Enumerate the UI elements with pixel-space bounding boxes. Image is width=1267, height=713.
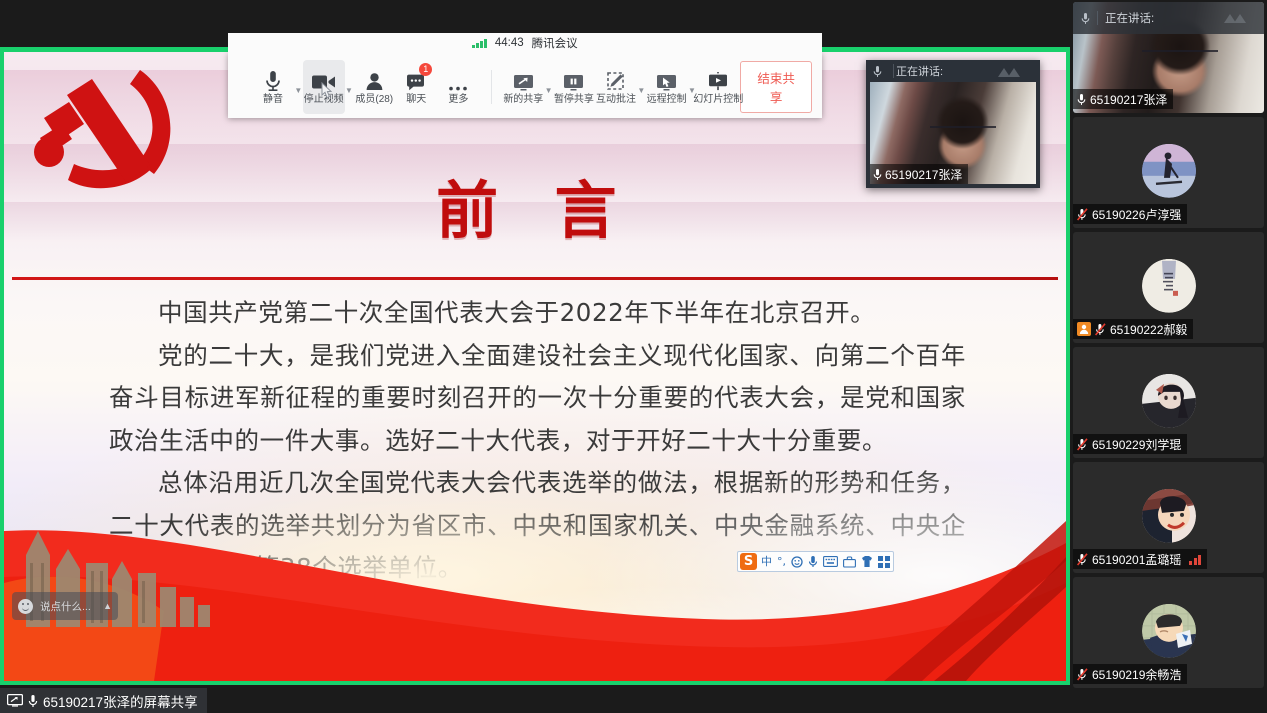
participant-tile[interactable]: 正在讲话: 65190217张泽 (1073, 2, 1264, 113)
members-button[interactable]: 成员(28) (353, 60, 395, 114)
meeting-toolbar: 44:43 腾讯会议 静音 ▼ 停止视频 ▼ (228, 53, 822, 118)
screen-share-notice-text: 65190217张泽的屏幕共享 (43, 691, 198, 711)
self-view-name: 65190217张泽 (885, 166, 962, 183)
meeting-app-name: 腾讯会议 (532, 35, 578, 51)
members-icon (365, 69, 384, 91)
mute-label: 静音 (263, 94, 283, 105)
remote-control-label: 远程控制 (647, 94, 687, 105)
participant-name-badge: 65190229刘学琨 (1073, 434, 1187, 454)
header-divider (1097, 11, 1098, 25)
participant-name: 65190201孟璐瑶 (1092, 551, 1181, 568)
glasses-detail (930, 126, 996, 135)
toolbar-divider (491, 70, 492, 104)
pause-share-button[interactable]: 暂停共享 (553, 60, 595, 114)
poor-network-icon (1189, 554, 1201, 565)
more-icon (448, 69, 468, 91)
self-view-name-badge: 65190217张泽 (870, 164, 968, 184)
meeting-window: 前 言 中国共产党第二十次全国代表大会于2022年下半年在北京召开。 党的二十大… (0, 0, 1267, 713)
sogou-logo-icon[interactable]: S (740, 553, 757, 570)
remote-control-button[interactable]: 远程控制 (646, 60, 688, 114)
chevron-down-icon[interactable]: ▼ (345, 86, 354, 95)
pause-share-icon (563, 69, 584, 91)
participant-tile[interactable]: 65190229刘学琨 (1073, 347, 1264, 458)
tencent-meeting-logo-icon (996, 66, 1030, 78)
chat-button[interactable]: 聊天 1 (395, 60, 437, 114)
slide-control-button[interactable]: 幻灯片控制 (696, 60, 740, 114)
header-divider (893, 64, 894, 78)
tencent-meeting-logo-icon (1222, 12, 1256, 24)
annotate-button[interactable]: 互动批注 (595, 60, 637, 114)
avatar (1142, 373, 1196, 427)
participant-name: 65190217张泽 (1090, 91, 1167, 108)
quick-chat-widget[interactable]: 说点什么... ▲ (12, 592, 118, 620)
screen-share-icon (7, 694, 23, 707)
microphone-muted-icon (1077, 208, 1088, 221)
participant-name-badge: 65190201孟璐瑶 (1073, 549, 1207, 569)
microphone-icon (1077, 93, 1086, 106)
host-badge-icon (1077, 322, 1091, 336)
pause-share-label: 暂停共享 (554, 94, 594, 105)
microphone-icon (1081, 12, 1090, 25)
new-share-button[interactable]: 新的共享 (502, 60, 544, 114)
chat-label: 聊天 (406, 94, 426, 105)
ime-apps-icon[interactable] (877, 556, 891, 568)
participant-name: 65190222郝毅 (1110, 321, 1187, 338)
new-share-label: 新的共享 (503, 94, 543, 105)
network-signal-icon (472, 39, 487, 48)
microphone-muted-icon (1077, 553, 1088, 566)
quick-chat-placeholder: 说点什么... (40, 599, 91, 614)
annotate-label: 互动批注 (596, 94, 636, 105)
participant-name: 65190229刘学琨 (1092, 436, 1181, 453)
floating-self-view[interactable]: 正在讲话: 65190217张泽 (866, 60, 1040, 188)
smiley-icon[interactable] (18, 599, 33, 614)
microphone-icon (873, 65, 882, 78)
ime-skin-icon[interactable] (860, 555, 874, 568)
avatar (1142, 143, 1196, 197)
avatar (1142, 258, 1196, 312)
microphone-icon (265, 69, 281, 91)
microphone-muted-icon (1077, 438, 1088, 451)
speaking-label: 正在讲话: (1105, 10, 1154, 26)
members-label: 成员(28) (355, 94, 393, 105)
participant-tile[interactable]: 65190222郝毅 (1073, 232, 1264, 343)
slide-control-label: 幻灯片控制 (693, 94, 743, 105)
ime-language-toggle[interactable]: 中 (760, 552, 773, 571)
microphone-muted-icon (1095, 323, 1106, 336)
ime-punctuation-toggle[interactable]: °, (776, 552, 787, 571)
self-view-header: 正在讲话: (866, 60, 1040, 82)
microphone-icon (28, 694, 38, 708)
participant-tile[interactable]: 65190201孟璐瑶 (1073, 462, 1264, 573)
avatar (1142, 603, 1196, 657)
more-label: 更多 (448, 94, 468, 105)
slide-divider (12, 277, 1058, 280)
chevron-down-icon[interactable]: ▼ (294, 86, 303, 95)
remote-control-icon (656, 69, 677, 91)
ime-emoji-icon[interactable] (790, 556, 804, 568)
microphone-muted-icon (1077, 668, 1088, 681)
chat-unread-badge: 1 (419, 63, 432, 76)
participant-name-badge: 65190219余畅浩 (1073, 664, 1187, 684)
participant-tile[interactable]: 65190219余畅浩 (1073, 577, 1264, 688)
new-share-icon (513, 69, 534, 91)
chevron-up-icon[interactable]: ▲ (103, 601, 112, 611)
slide-paragraph: 中国共产党第二十次全国代表大会于2022年下半年在北京召开。 (109, 292, 966, 335)
speaking-indicator: 正在讲话: (1073, 2, 1264, 34)
meeting-titlebar: 44:43 腾讯会议 (228, 33, 822, 53)
ime-mic-icon[interactable] (807, 555, 819, 568)
more-button[interactable]: 更多 (437, 60, 479, 114)
ime-keyboard-icon[interactable] (822, 556, 839, 567)
participant-name-badge: 65190226卢淳强 (1073, 204, 1187, 224)
chevron-down-icon[interactable]: ▼ (544, 86, 553, 95)
cursor-icon (320, 82, 334, 100)
meeting-timer: 44:43 (495, 37, 524, 49)
speaking-label: 正在讲话: (896, 63, 943, 79)
chevron-down-icon[interactable]: ▼ (637, 86, 646, 95)
microphone-icon (873, 168, 882, 181)
annotate-icon (606, 69, 625, 91)
ime-toolbox-icon[interactable] (842, 556, 857, 568)
mute-button[interactable]: 静音 (252, 60, 294, 114)
avatar (1142, 488, 1196, 542)
participant-name-badge: 65190222郝毅 (1073, 319, 1193, 339)
participant-tile[interactable]: 65190226卢淳强 (1073, 117, 1264, 228)
sogou-ime-toolbar[interactable]: S 中 °, (737, 551, 894, 572)
participant-strip[interactable]: 正在讲话: 65190217张泽 (1070, 0, 1267, 713)
end-share-button[interactable]: 结束共享 (740, 61, 812, 113)
screen-share-notice: 65190217张泽的屏幕共享 (0, 688, 207, 713)
stop-video-button[interactable]: 停止视频 (303, 60, 345, 114)
participant-name: 65190226卢淳强 (1092, 206, 1181, 223)
participant-name-badge: 65190217张泽 (1073, 89, 1173, 109)
glasses-detail (1142, 50, 1218, 60)
slide-control-icon (708, 69, 728, 91)
participant-name: 65190219余畅浩 (1092, 666, 1181, 683)
